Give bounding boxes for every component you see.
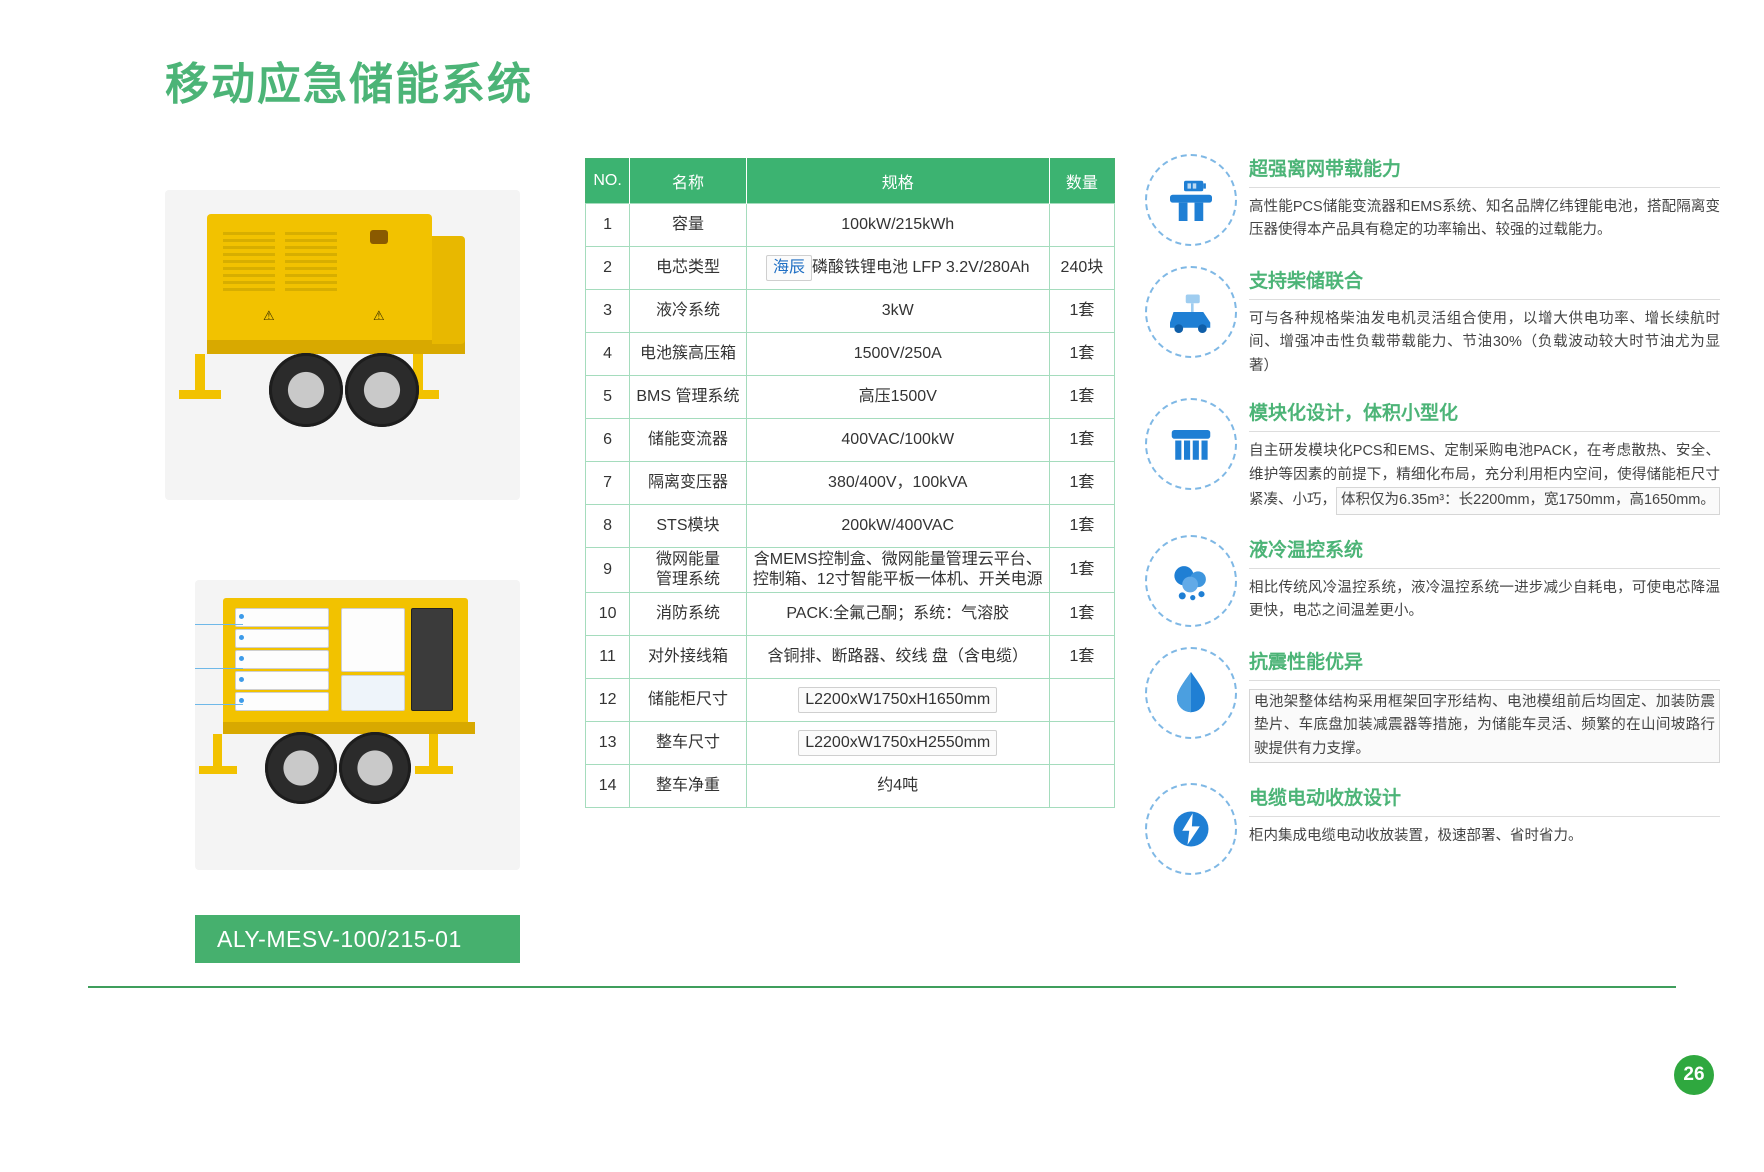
cell-no: 11: [586, 636, 630, 679]
table-row: 11对外接线箱含铜排、断路器、绞线 盘（含电缆）1套: [586, 636, 1115, 679]
feature-title: 支持柴储联合: [1249, 266, 1720, 293]
footer-divider: [88, 986, 1676, 988]
feature-body: 模块化设计，体积小型化自主研发模块化PCS和EMS、定制采购电池PACK，在考虑…: [1249, 394, 1720, 514]
feature-divider: [1249, 816, 1720, 817]
cell-name: 消防系统: [630, 593, 746, 636]
cell-name: 储能柜尺寸: [630, 679, 746, 722]
cell-no: 13: [586, 722, 630, 765]
page-number-badge: 26: [1674, 1055, 1714, 1095]
header-no: NO.: [586, 159, 630, 204]
feature-description: 相比传统风冷温控系统，液冷温控系统一进步减少自耗电，可使电芯降温更快，电芯之间温…: [1249, 577, 1720, 624]
cell-name: 微网能量管理系统: [630, 548, 746, 593]
cell-qty: [1049, 204, 1114, 247]
cell-qty: 1套: [1049, 376, 1114, 419]
cell-spec: L2200xW1750xH1650mm: [746, 679, 1049, 722]
header-qty: 数量: [1049, 159, 1114, 204]
feature-item: 超强离网带载能力高性能PCS储能变流器和EMS系统、知名品牌亿纬锂能电池，搭配隔…: [1145, 150, 1720, 246]
cell-qty: 240块: [1049, 247, 1114, 290]
feature-body: 抗震性能优异电池架整体结构采用框架回字形结构、电池模组前后均固定、加装防震垫片、…: [1249, 643, 1720, 763]
cell-spec: 100kW/215kWh: [746, 204, 1049, 247]
cell-qty: 1套: [1049, 462, 1114, 505]
table-row: 4电池簇高压箱1500V/250A1套: [586, 333, 1115, 376]
feature-item: 电缆电动收放设计柜内集成电缆电动收放装置，极速部署、省时省力。: [1145, 779, 1720, 875]
cell-spec: 海辰磷酸铁锂电池 LFP 3.2V/280Ah: [746, 247, 1049, 290]
cell-no: 10: [586, 593, 630, 636]
header-name: 名称: [630, 159, 746, 204]
table-row: 8STS模块200kW/400VAC1套: [586, 505, 1115, 548]
cell-spec: 200kW/400VAC: [746, 505, 1049, 548]
feature-divider: [1249, 680, 1720, 681]
slide-page: 移动应急储能系统 ⚠ ⚠: [0, 0, 1764, 1172]
feature-title: 模块化设计，体积小型化: [1249, 398, 1720, 425]
cell-qty: 1套: [1049, 593, 1114, 636]
feature-title: 电缆电动收放设计: [1249, 783, 1720, 810]
feature-description: 可与各种规格柴油发电机灵活组合使用，以增大供电功率、增长续航时间、增强冲击性负载…: [1249, 308, 1720, 378]
cell-qty: 1套: [1049, 333, 1114, 376]
table-row: 13整车尺寸L2200xW1750xH2550mm: [586, 722, 1115, 765]
table-row: 14整车净重约4吨: [586, 765, 1115, 808]
feature-body: 支持柴储联合可与各种规格柴油发电机灵活组合使用，以增大供电功率、增长续航时间、增…: [1249, 262, 1720, 378]
cell-qty: [1049, 679, 1114, 722]
modular-rack-icon: [1145, 398, 1237, 490]
cell-spec: 1500V/250A: [746, 333, 1049, 376]
cell-qty: [1049, 765, 1114, 808]
feature-item: 模块化设计，体积小型化自主研发模块化PCS和EMS、定制采购电池PACK，在考虑…: [1145, 394, 1720, 514]
feature-item: 抗震性能优异电池架整体结构采用框架回字形结构、电池模组前后均固定、加装防震垫片、…: [1145, 643, 1720, 763]
table-row: 2电芯类型海辰磷酸铁锂电池 LFP 3.2V/280Ah240块: [586, 247, 1115, 290]
table-row: 10消防系统PACK:全氟己酮；系统：气溶胶1套: [586, 593, 1115, 636]
table-row: 9微网能量管理系统含MEMS控制盒、微网能量管理云平台、控制箱、12寸智能平板一…: [586, 548, 1115, 593]
cell-name: 整车尺寸: [630, 722, 746, 765]
cell-no: 2: [586, 247, 630, 290]
page-title: 移动应急储能系统: [165, 48, 533, 112]
cable-reel-icon: [1145, 783, 1237, 875]
table-row: 6储能变流器400VAC/100kW1套: [586, 419, 1115, 462]
feature-description: 柜内集成电缆电动收放装置，极速部署、省时省力。: [1249, 825, 1720, 848]
cell-no: 12: [586, 679, 630, 722]
feature-list: 超强离网带载能力高性能PCS储能变流器和EMS系统、知名品牌亿纬锂能电池，搭配隔…: [1145, 150, 1720, 891]
cell-spec: 400VAC/100kW: [746, 419, 1049, 462]
table-row: 5BMS 管理系统高压1500V1套: [586, 376, 1115, 419]
feature-divider: [1249, 299, 1720, 300]
cell-spec: 约4吨: [746, 765, 1049, 808]
cell-spec: 高压1500V: [746, 376, 1049, 419]
header-spec: 规格: [746, 159, 1049, 204]
table-row: 12储能柜尺寸L2200xW1750xH1650mm: [586, 679, 1115, 722]
cell-qty: 1套: [1049, 505, 1114, 548]
cell-no: 8: [586, 505, 630, 548]
feature-divider: [1249, 187, 1720, 188]
cell-name: 储能变流器: [630, 419, 746, 462]
spec-table: NO. 名称 规格 数量 1容量100kW/215kWh2电芯类型海辰磷酸铁锂电…: [585, 158, 1115, 808]
feature-divider: [1249, 568, 1720, 569]
shock-resist-icon: [1145, 647, 1237, 739]
cell-no: 9: [586, 548, 630, 593]
cell-no: 14: [586, 765, 630, 808]
cell-spec: 含MEMS控制盒、微网能量管理云平台、控制箱、12寸智能平板一体机、开关电源: [746, 548, 1049, 593]
model-badge: ALY-MESV-100/215-01: [195, 915, 520, 963]
cell-name: 液冷系统: [630, 290, 746, 333]
product-photo-exterior: ⚠ ⚠: [165, 190, 520, 500]
feature-description: 自主研发模块化PCS和EMS、定制采购电池PACK，在考虑散热、安全、维护等因素…: [1249, 440, 1720, 514]
cell-spec: 含铜排、断路器、绞线 盘（含电缆）: [746, 636, 1049, 679]
cell-qty: 1套: [1049, 548, 1114, 593]
table-row: 1容量100kW/215kWh: [586, 204, 1115, 247]
feature-title: 抗震性能优异: [1249, 647, 1720, 674]
feature-item: 支持柴储联合可与各种规格柴油发电机灵活组合使用，以增大供电功率、增长续航时间、增…: [1145, 262, 1720, 378]
table-row: 7隔离变压器380/400V，100kVA1套: [586, 462, 1115, 505]
feature-item: 液冷温控系统相比传统风冷温控系统，液冷温控系统一进步减少自耗电，可使电芯降温更快…: [1145, 531, 1720, 627]
cell-no: 7: [586, 462, 630, 505]
car-charge-icon: [1145, 266, 1237, 358]
feature-body: 超强离网带载能力高性能PCS储能变流器和EMS系统、知名品牌亿纬锂能电池，搭配隔…: [1249, 150, 1720, 246]
cell-name: 隔离变压器: [630, 462, 746, 505]
battery-grid-icon: [1145, 154, 1237, 246]
feature-description: 高性能PCS储能变流器和EMS系统、知名品牌亿纬锂能电池，搭配隔离变压器使得本产…: [1249, 196, 1720, 243]
cell-name: 电芯类型: [630, 247, 746, 290]
feature-description: 电池架整体结构采用框架回字形结构、电池模组前后均固定、加装防震垫片、车底盘加装减…: [1249, 689, 1720, 763]
liquid-cooling-icon: [1145, 535, 1237, 627]
cell-name: 电池簇高压箱: [630, 333, 746, 376]
product-photo-interior: [195, 580, 520, 870]
cell-spec: PACK:全氟己酮；系统：气溶胶: [746, 593, 1049, 636]
cell-no: 6: [586, 419, 630, 462]
cell-name: BMS 管理系统: [630, 376, 746, 419]
cell-no: 5: [586, 376, 630, 419]
cell-spec: 3kW: [746, 290, 1049, 333]
cell-no: 4: [586, 333, 630, 376]
feature-divider: [1249, 431, 1720, 432]
cell-name: 容量: [630, 204, 746, 247]
table-header-row: NO. 名称 规格 数量: [586, 159, 1115, 204]
cell-name: 对外接线箱: [630, 636, 746, 679]
cell-no: 1: [586, 204, 630, 247]
cell-qty: [1049, 722, 1114, 765]
cell-no: 3: [586, 290, 630, 333]
feature-title: 液冷温控系统: [1249, 535, 1720, 562]
cell-spec: 380/400V，100kVA: [746, 462, 1049, 505]
feature-title: 超强离网带载能力: [1249, 154, 1720, 181]
cell-spec: L2200xW1750xH2550mm: [746, 722, 1049, 765]
cell-name: 整车净重: [630, 765, 746, 808]
cell-name: STS模块: [630, 505, 746, 548]
cell-qty: 1套: [1049, 419, 1114, 462]
feature-body: 液冷温控系统相比传统风冷温控系统，液冷温控系统一进步减少自耗电，可使电芯降温更快…: [1249, 531, 1720, 627]
cell-qty: 1套: [1049, 290, 1114, 333]
feature-body: 电缆电动收放设计柜内集成电缆电动收放装置，极速部署、省时省力。: [1249, 779, 1720, 875]
cell-qty: 1套: [1049, 636, 1114, 679]
table-row: 3液冷系统3kW1套: [586, 290, 1115, 333]
